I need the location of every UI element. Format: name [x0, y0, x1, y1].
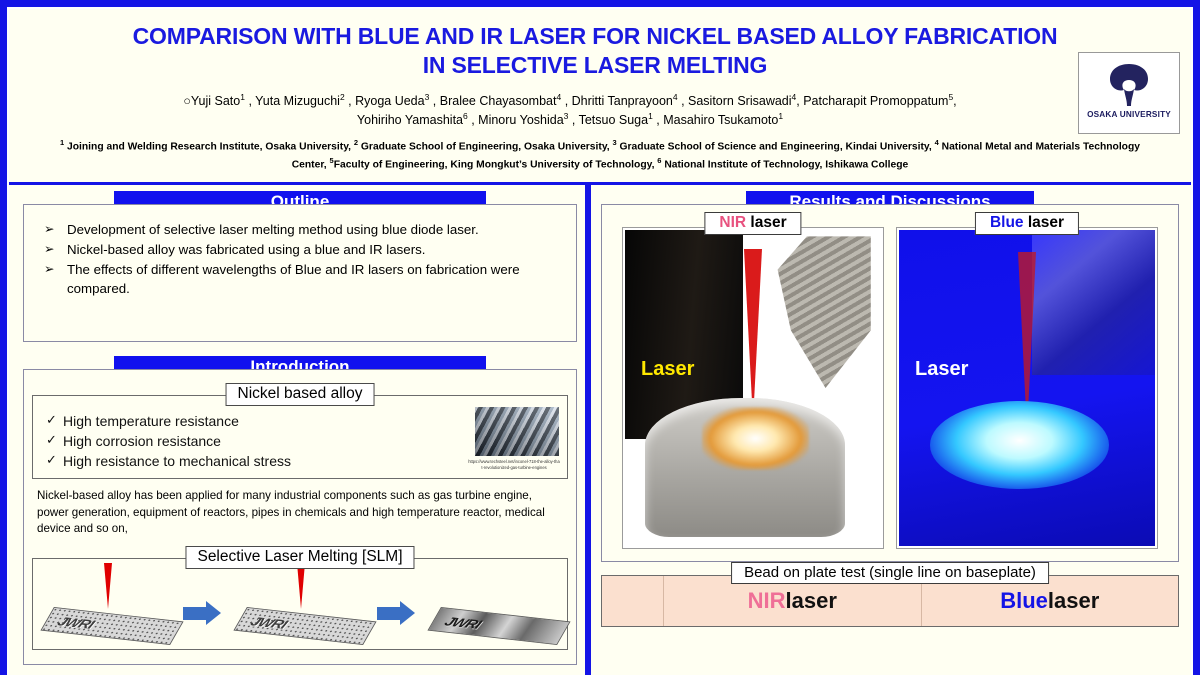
- page-title: COMPARISON WITH BLUE AND IR LASER FOR NI…: [19, 15, 1181, 81]
- list-item: ➢ Development of selective laser melting…: [36, 221, 564, 240]
- introduction-paragraph: Nickel-based alloy has been applied for …: [32, 479, 568, 538]
- poster-header: COMPARISON WITH BLUE AND IR LASER FOR NI…: [9, 9, 1191, 185]
- outline-bullet-list: ➢ Development of selective laser melting…: [36, 221, 564, 299]
- photo-melt-glow: [702, 407, 810, 470]
- slm-card: Selective Laser Melting [SLM] JWRI JWRI: [32, 558, 568, 650]
- nir-accent-text: NIR: [748, 588, 786, 614]
- alloy-feature-text: High temperature resistance: [63, 413, 239, 429]
- laser-beam-icon: [297, 563, 305, 609]
- laser-beam-icon: [104, 563, 112, 609]
- process-arrow-icon: [377, 579, 417, 645]
- outline-bullet-text: Development of selective laser melting m…: [67, 222, 479, 237]
- outline-bullet-text: Nickel-based alloy was fabricated using …: [67, 242, 425, 257]
- author-line-1: ○Yuji Sato1 , Yuta Mizuguchi2 , Ryoga Ue…: [67, 91, 1073, 110]
- slm-stage-2: JWRI: [230, 579, 369, 645]
- results-panel: NIR laser Laser: [601, 204, 1179, 562]
- introduction-panel: Nickel based alloy ✓ High temperature re…: [23, 369, 577, 665]
- left-column: Outline ➢ Development of selective laser…: [9, 185, 585, 675]
- photo-machine-parts: [1032, 230, 1155, 375]
- bead-on-plate-table: Bead on plate test (single line on basep…: [601, 575, 1179, 627]
- osaka-university-crest-icon: [1098, 56, 1160, 109]
- nir-laser-photo-label: NIR laser: [704, 212, 801, 235]
- blue-laser-annotation: Laser: [915, 358, 968, 381]
- turbine-blades-photo: [475, 407, 559, 456]
- blue-header-rest: laser: [1048, 588, 1099, 614]
- process-arrow-icon: [183, 579, 223, 645]
- nir-header-rest: laser: [786, 588, 837, 614]
- nir-laser-photo-card: NIR laser Laser: [622, 227, 884, 549]
- table-row-label-cell: [602, 576, 664, 626]
- blue-process-photo: Laser: [899, 230, 1155, 546]
- check-icon: ✓: [46, 431, 57, 449]
- poster-inner-frame: COMPARISON WITH BLUE AND IR LASER FOR NI…: [7, 7, 1193, 675]
- list-item: ➢ The effects of different wavelengths o…: [36, 261, 564, 299]
- author-list: ○Yuji Sato1 , Yuta Mizuguchi2 , Ryoga Ue…: [19, 81, 1181, 130]
- alloy-feature-text: High resistance to mechanical stress: [63, 453, 291, 469]
- poster-body: Outline ➢ Development of selective laser…: [9, 185, 1191, 675]
- author-line-2: Yohiriho Yamashita6 , Minoru Yoshida3 , …: [67, 110, 1073, 129]
- nir-laser-annotation: Laser: [641, 358, 694, 381]
- nir-label-rest: laser: [746, 214, 787, 231]
- nir-photo-frame: Laser: [622, 227, 884, 549]
- osaka-university-logo: OSAKA UNIVERSITY: [1078, 52, 1180, 134]
- nir-process-photo: Laser: [625, 230, 881, 546]
- list-item: ➢ Nickel-based alloy was fabricated usin…: [36, 241, 564, 260]
- laser-photo-row: NIR laser Laser: [611, 219, 1169, 549]
- slm-card-title: Selective Laser Melting [SLM]: [185, 546, 414, 569]
- check-icon: ✓: [46, 451, 57, 469]
- outline-panel: ➢ Development of selective laser melting…: [23, 204, 577, 342]
- arrow-bullet-icon: ➢: [44, 241, 54, 259]
- arrow-bullet-icon: ➢: [44, 261, 54, 279]
- blue-laser-photo-card: Blue laser Laser: [896, 227, 1158, 549]
- nir-accent-text: NIR: [719, 214, 746, 231]
- check-icon: ✓: [46, 411, 57, 429]
- osaka-university-logo-text: OSAKA UNIVERSITY: [1087, 110, 1171, 119]
- blue-accent-text: Blue: [1000, 588, 1048, 614]
- blue-photo-frame: Laser: [896, 227, 1158, 549]
- slm-process-diagram: JWRI JWRI JWRI: [33, 559, 567, 645]
- affiliations: 1 Joining and Welding Research Institute…: [19, 129, 1181, 173]
- poster-root: COMPARISON WITH BLUE AND IR LASER FOR NI…: [0, 0, 1200, 675]
- outline-bullet-text: The effects of different wavelengths of …: [67, 262, 520, 296]
- nickel-alloy-card-title: Nickel based alloy: [226, 383, 375, 406]
- blue-laser-photo-label: Blue laser: [975, 212, 1079, 235]
- photo-melt-glow: [930, 401, 1109, 489]
- bead-on-plate-title: Bead on plate test (single line on basep…: [731, 562, 1049, 584]
- slm-stage-1: JWRI: [37, 579, 176, 645]
- arrow-bullet-icon: ➢: [44, 221, 54, 239]
- slm-stage-3: JWRI: [424, 579, 563, 645]
- blue-accent-text: Blue: [990, 214, 1024, 231]
- blue-label-rest: laser: [1024, 214, 1065, 231]
- right-column: Results and Discussions NIR laser: [591, 185, 1191, 675]
- nickel-alloy-card: Nickel based alloy ✓ High temperature re…: [32, 395, 568, 479]
- alloy-feature-text: High corrosion resistance: [63, 433, 221, 449]
- turbine-photo-credit: https://www.techsteel.net/inconel-718-th…: [468, 459, 560, 470]
- bead-on-plate-section: Bead on plate test (single line on basep…: [601, 575, 1179, 627]
- photo-laser-beam-icon: [744, 249, 762, 421]
